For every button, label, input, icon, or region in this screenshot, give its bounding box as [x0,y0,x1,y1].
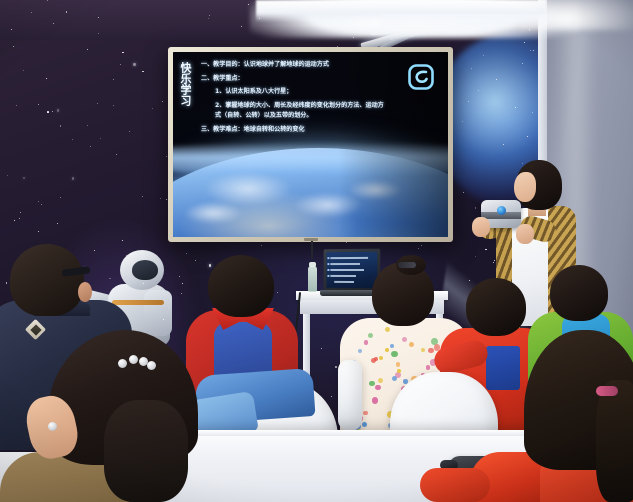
man-left-head [10,244,84,316]
girl-hair-tie [398,262,416,268]
slide-text-lines: 一、教学目的：认识地球并了解地球的运动方式 二、教学重点： 1、认识太阳系及八大… [201,61,414,139]
girl-ponytail-hair-band [596,386,618,396]
girl-ponytail-tail [596,380,633,502]
tv-screen: 快乐学习 一、教学目的：认识地球并了解地球的运动方式 二、教学重点： 1、认识太… [173,52,448,237]
boy-center-head [208,255,274,317]
laptop-screen [326,252,377,288]
wall-display-tv[interactable]: 快乐学习 一、教学目的：认识地球并了解地球的运动方式 二、教学重点： 1、认识太… [168,47,453,242]
slide-line-3: 1、认识太阳系及八大行星； [215,88,414,96]
slide-vertical-heading: 快乐学习 [178,62,194,106]
slide-line-1: 一、教学目的：认识地球并了解地球的运动方式 [201,61,414,69]
boy-green-jacket-head [550,265,608,321]
ring-icon [48,422,57,431]
man-left-ear [78,282,92,302]
demo-device-indicator-icon [497,206,506,215]
presenter-face [514,172,536,202]
presenter-laptop[interactable] [324,249,381,292]
presenter-left-hand [472,217,490,237]
slide-line-4: 2、掌握地球的大小、周长及经纬度的变化划分的方法、运动方 [215,102,414,110]
pearl-hair-clip [118,358,156,368]
tv-power-cable [311,241,313,259]
slide-line-2: 二、教学重点： [201,75,414,83]
child-red-jacket-graphic [486,346,520,390]
presenter-right-hand [516,224,534,244]
child-red-jacket-head [466,278,526,336]
slide-line-5: 式（自转、公转）以及五带的划分。 [215,112,414,120]
child-foreground-red-arm [420,468,490,502]
slide-line-6: 三、教学难点：地球自转和公转的变化 [201,126,414,134]
water-bottle[interactable] [308,266,317,292]
chair-back-partial[interactable] [338,360,362,430]
screenshot-root: 快乐学习 一、教学目的：认识地球并了解地球的运动方式 二、教学重点： 1、认识太… [0,0,633,502]
woman-foreground-ponytail [104,400,188,502]
ceiling-soffit-step [380,14,546,30]
